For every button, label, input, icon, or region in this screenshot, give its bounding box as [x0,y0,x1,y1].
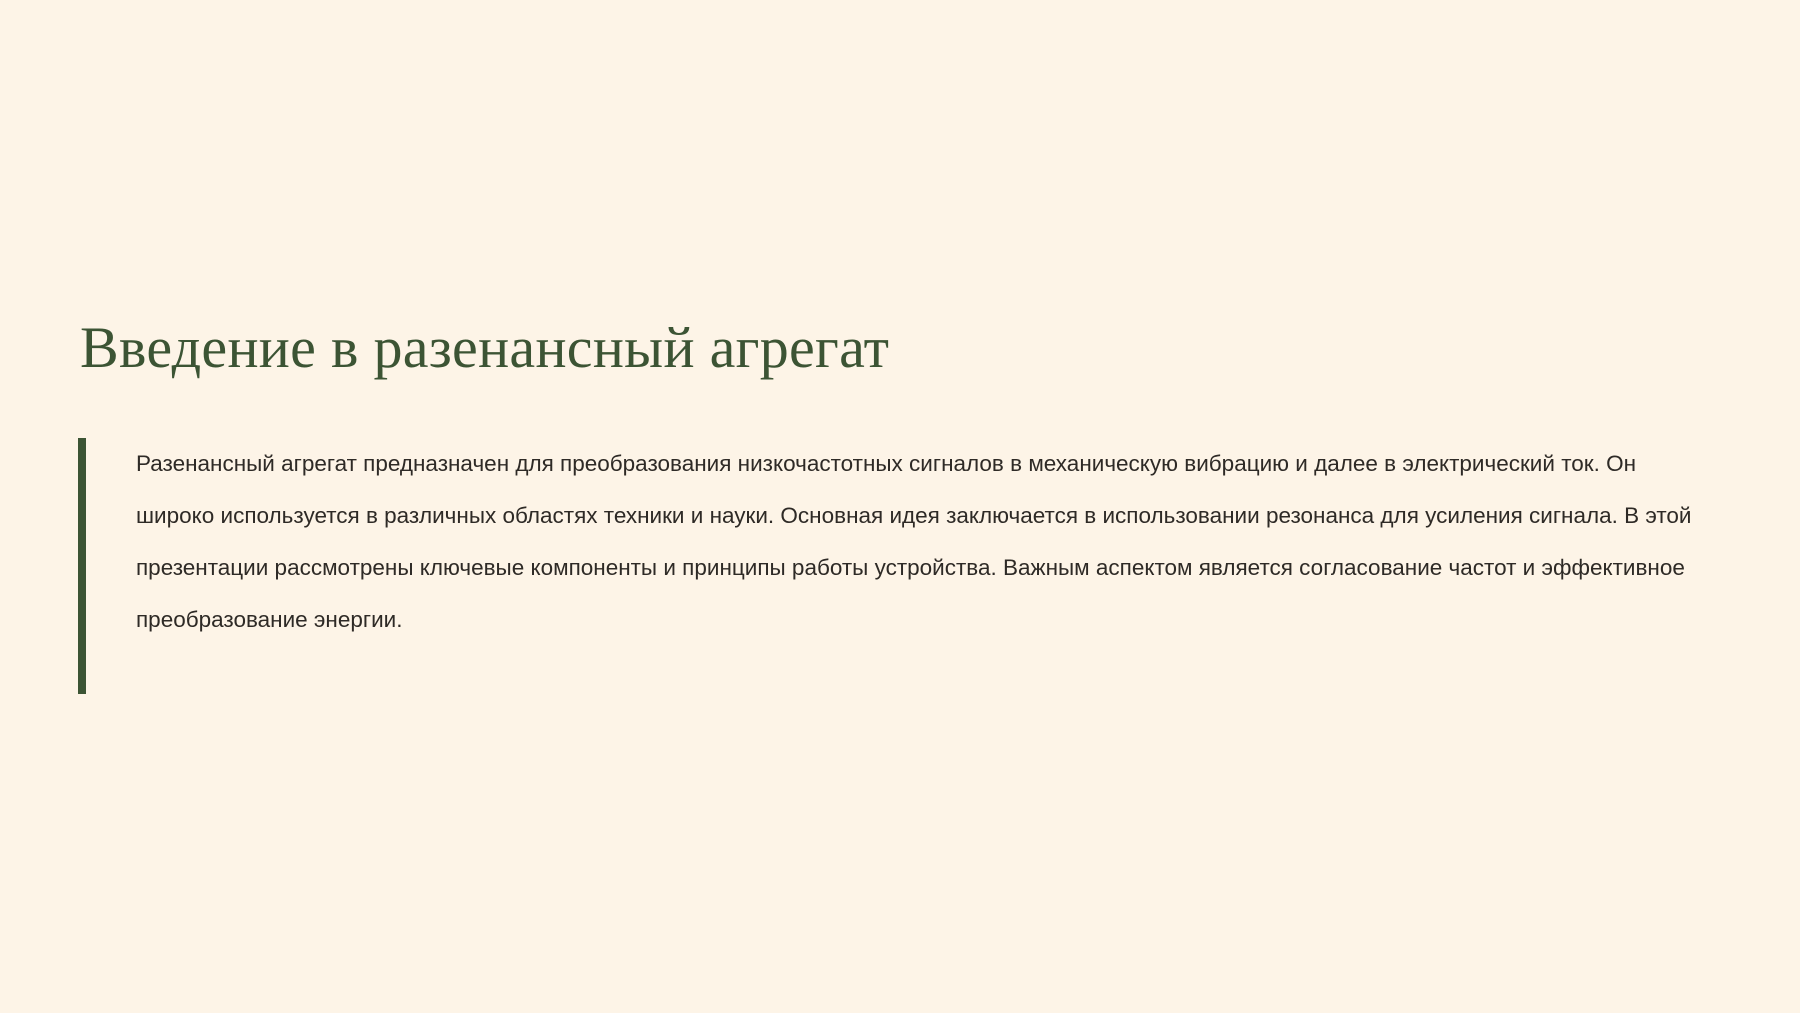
body-callout-block: Разенансный агрегат предназначен для пре… [78,438,1718,694]
page-title: Введение в разенансный агрегат [80,316,889,380]
presentation-slide: Введение в разенансный агрегат Разенансн… [0,0,1800,1013]
body-paragraph: Разенансный агрегат предназначен для пре… [86,438,1718,694]
accent-bar [78,438,86,694]
